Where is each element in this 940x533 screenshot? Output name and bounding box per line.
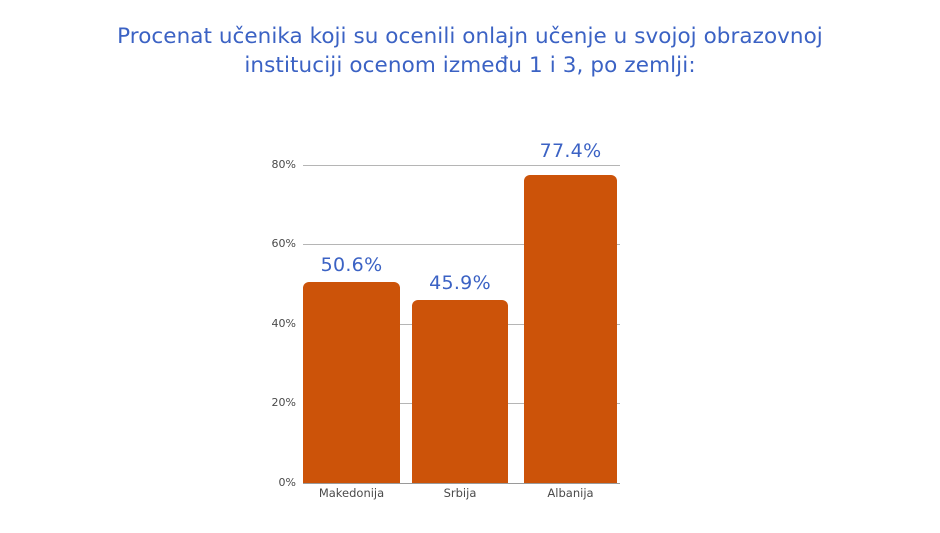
bar-srbija[interactable] [412, 300, 508, 483]
x-axis-label-makedonija: Makedonija [303, 486, 400, 500]
y-axis-tick-80: 80% [254, 158, 296, 172]
y-axis-tick-20: 20% [254, 396, 296, 410]
bar-value-label-srbija: 45.9% [412, 272, 508, 294]
axis-baseline [303, 483, 620, 484]
y-axis-tick-label-0: 0% [256, 476, 296, 489]
gridline-80 [303, 165, 620, 166]
y-axis-tick-label-60: 60% [256, 237, 296, 250]
y-axis-tick-0: 0% [254, 476, 296, 490]
bar-makedonija[interactable] [303, 282, 400, 483]
x-axis-label-albanija: Albanija [524, 486, 617, 500]
y-axis-tick-label-80: 80% [256, 158, 296, 171]
bar-albanija[interactable] [524, 175, 617, 483]
y-axis-tick-40: 40% [254, 317, 296, 331]
y-axis-tick-label-20: 20% [256, 396, 296, 409]
x-axis-label-srbija: Srbija [412, 486, 508, 500]
bar-value-label-makedonija: 50.6% [303, 254, 400, 276]
y-axis-tick-label-40: 40% [256, 317, 296, 330]
y-axis-tick-60: 60% [254, 237, 296, 251]
bar-chart-plot-area: 80% 60% 40% 20% 0% 50.6% 45.9% 77.4% Mak… [0, 0, 940, 533]
bar-value-label-albanija: 77.4% [524, 140, 617, 162]
